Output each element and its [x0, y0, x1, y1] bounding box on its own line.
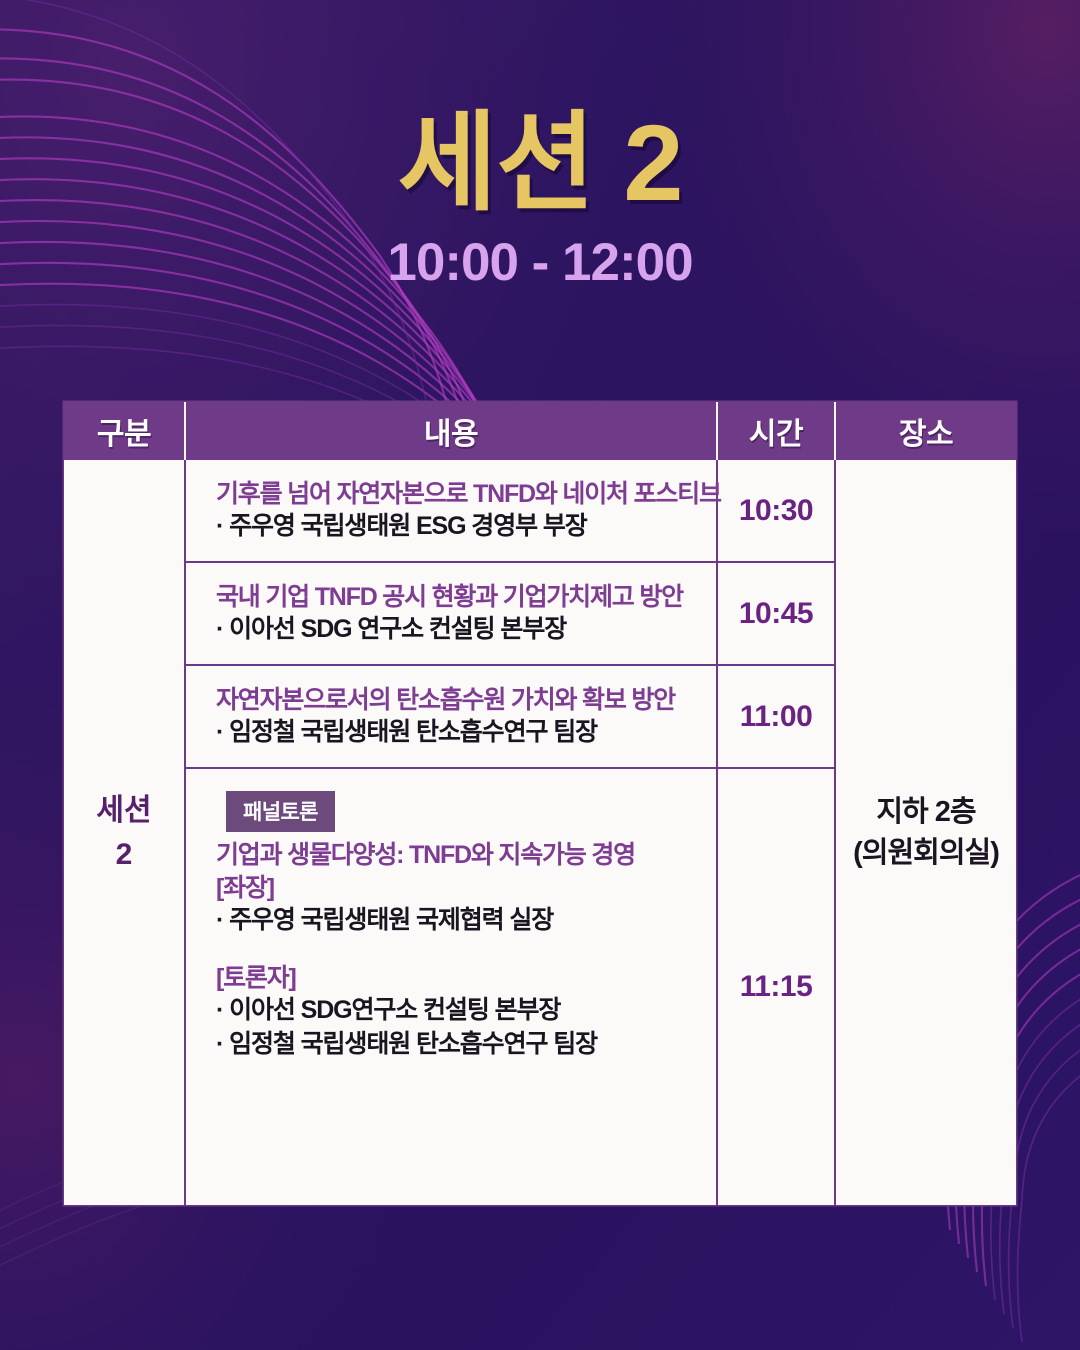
column-header-content: 내용 [185, 402, 717, 460]
session-speaker: · 이아선 SDG 연구소 컨설팅 본부장 [216, 613, 696, 646]
panel-panelist: · 임정철 국립생태원 탄소흡수연구 팀장 [216, 1028, 696, 1062]
session-content-cell: 기후를 넘어 자연자본으로 TNFD와 네이처 포스티브 · 주우영 국립생태원… [185, 460, 717, 562]
status-badge: 패널토론 [226, 791, 335, 832]
page-title: 세션 2 [0, 108, 1080, 218]
session-time: 11:15 [717, 768, 835, 1205]
division-label-line1: 세션 [64, 789, 184, 833]
session-content-cell: 자연자본으로서의 탄소흡수원 가치와 확보 방안 · 임정철 국립생태원 탄소흡… [185, 665, 717, 768]
session-speaker: · 주우영 국립생태원 ESG 경영부 부장 [216, 510, 696, 543]
session-topic: 기후를 넘어 자연자본으로 TNFD와 네이처 포스티브 [216, 478, 696, 510]
panel-chair-label: [좌장] [216, 872, 696, 905]
session-time: 10:30 [717, 460, 835, 562]
panel-panelists-label: [토론자] [216, 962, 696, 995]
session-topic: 자연자본으로서의 탄소흡수원 가치와 확보 방안 [216, 684, 696, 716]
division-cell: 세션 2 [64, 460, 185, 1205]
division-label-line2: 2 [64, 833, 184, 877]
column-header-division: 구분 [64, 402, 185, 460]
session-time: 11:00 [717, 665, 835, 768]
column-header-place: 장소 [835, 402, 1016, 460]
session-time-range: 10:00 - 12:00 [0, 232, 1080, 293]
panel-title: 기업과 생물다양성: TNFD와 지속가능 경영 [216, 839, 696, 872]
session-topic: 국내 기업 TNFD 공시 현황과 기업가치제고 방안 [216, 581, 696, 613]
panel-content-cell: 패널토론 기업과 생물다양성: TNFD와 지속가능 경영 [좌장] · 주우영… [185, 768, 717, 1205]
column-header-time: 시간 [717, 402, 835, 460]
panel-spacer [216, 938, 696, 962]
panel-bottom-spacer [216, 1061, 696, 1181]
poster-header: 세션 2 10:00 - 12:00 [0, 0, 1080, 293]
panel-chair: · 주우영 국립생태원 국제협력 실장 [216, 904, 696, 938]
session-content-cell: 국내 기업 TNFD 공시 현황과 기업가치제고 방안 · 이아선 SDG 연구… [185, 562, 717, 665]
table-row: 세션 2 기후를 넘어 자연자본으로 TNFD와 네이처 포스티브 · 주우영 … [64, 460, 1016, 562]
panel-panelist: · 이아선 SDG연구소 컨설팅 본부장 [216, 994, 696, 1028]
table-header-row: 구분 내용 시간 장소 [64, 402, 1016, 460]
schedule-table: 구분 내용 시간 장소 세션 2 기후를 넘어 자연자본으로 TNFD와 네이처… [64, 402, 1016, 1205]
session-time: 10:45 [717, 562, 835, 665]
session-speaker: · 임정철 국립생태원 탄소흡수연구 팀장 [216, 716, 696, 749]
place-label-line1: 지하 2층 [836, 792, 1016, 833]
place-label-line2: (의원회의실) [836, 833, 1016, 874]
place-cell: 지하 2층 (의원회의실) [835, 460, 1016, 1205]
